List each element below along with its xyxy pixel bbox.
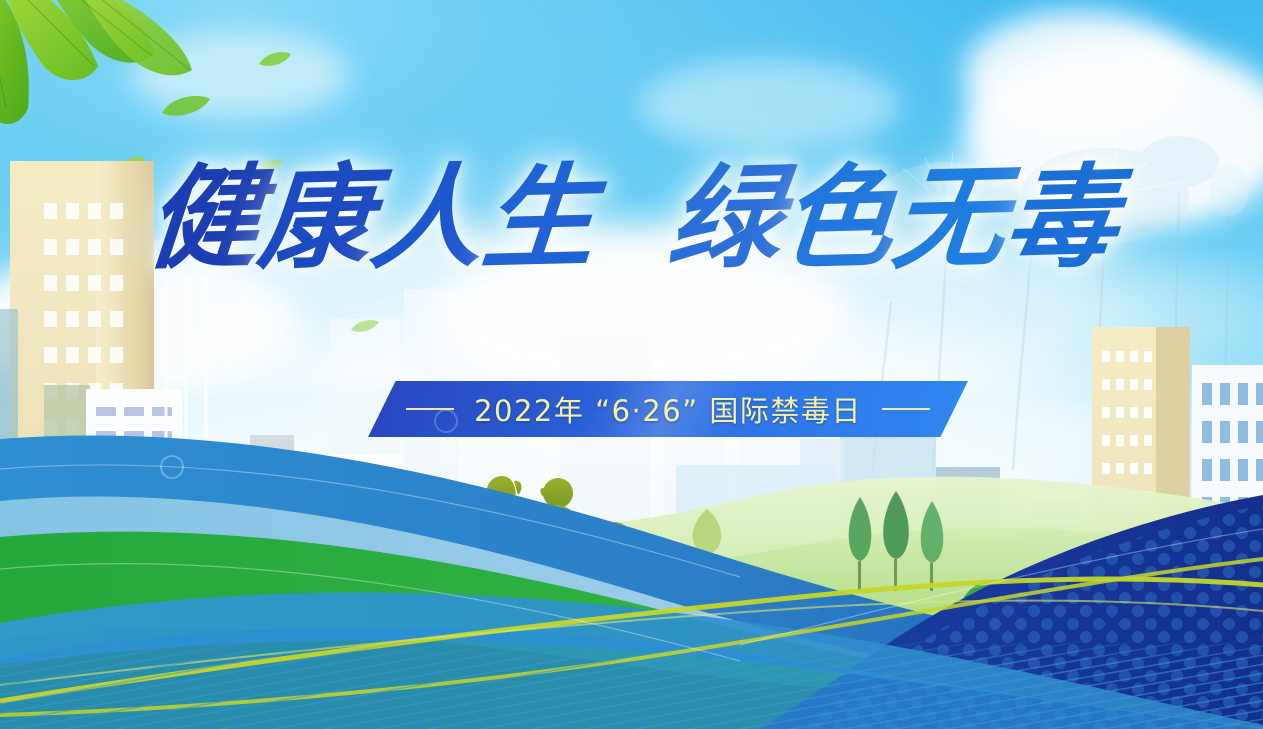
banner-label: 2022年 “6·26” 国际禁毒日: [474, 388, 862, 430]
poster-canvas: 健康人生绿色无毒 2022年 “6·26” 国际禁毒日: [0, 0, 1263, 729]
banner-rule-left: [406, 408, 454, 410]
banner-content: 2022年 “6·26” 国际禁毒日: [368, 381, 968, 437]
diagonal-stripe-texture: [0, 637, 1263, 729]
floating-leaf-3: [258, 50, 292, 68]
subtitle-banner: 2022年 “6·26” 国际禁毒日: [368, 381, 968, 437]
floating-leaf-1: [160, 93, 212, 119]
banner-rule-right: [882, 408, 930, 410]
